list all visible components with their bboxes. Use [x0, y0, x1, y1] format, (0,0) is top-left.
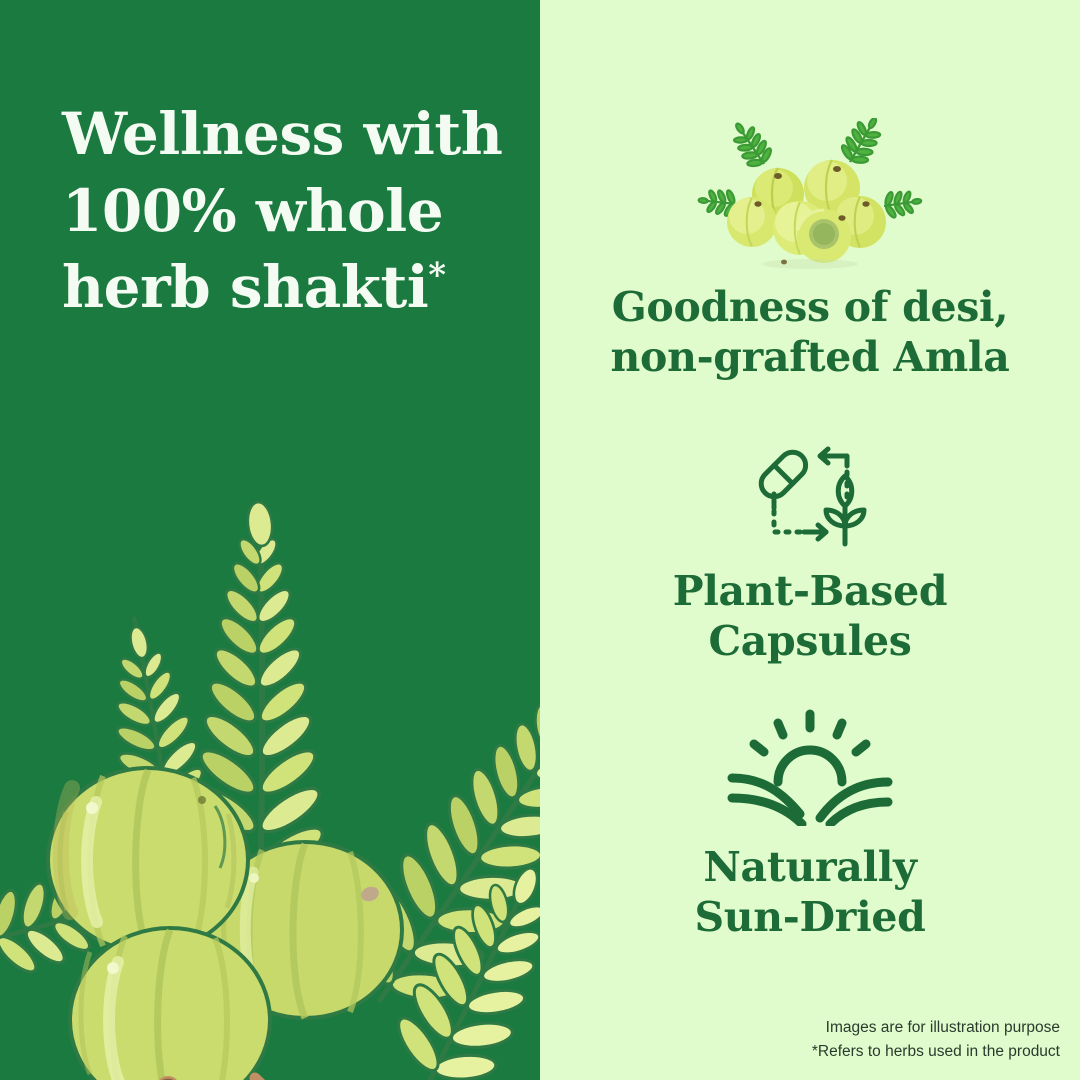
feature-label-capsule-line-1: Plant-Based	[673, 567, 948, 615]
feature-label-amla-line-1: Goodness of desi,	[612, 283, 1009, 331]
footnote-line-2: *Refers to herbs used in the product	[812, 1040, 1060, 1064]
headline-line-2: 100% whole	[62, 177, 443, 245]
right-panel: Goodness of desi, non-grafted Amla	[540, 0, 1080, 1080]
feature-visual-sun	[722, 706, 898, 826]
amla-fruit-left	[48, 768, 248, 952]
headline-asterisk: *	[428, 256, 445, 296]
feature-label-sun: Naturally Sun-Dried	[694, 842, 925, 942]
sun-over-fields-icon	[722, 706, 898, 826]
feature-label-capsule-line-2: Capsules	[708, 617, 911, 665]
feature-label-amla: Goodness of desi, non-grafted Amla	[611, 282, 1010, 382]
feature-label-sun-line-1: Naturally	[703, 843, 916, 891]
feature-visual-amla	[690, 118, 930, 276]
headline-line-1: Wellness with	[62, 100, 502, 168]
product-feature-poster: Wellness with 100% whole herb shakti*	[0, 0, 1080, 1080]
feature-item-sun: Naturally Sun-Dried	[540, 706, 1080, 942]
amla-berries-photo	[690, 118, 930, 276]
feature-item-capsule: Plant-Based Capsules	[540, 440, 1080, 666]
feature-label-amla-line-2: non-grafted Amla	[611, 333, 1010, 381]
page-headline: Wellness with 100% whole herb shakti*	[62, 96, 512, 326]
plant-based-capsule-cycle-icon	[746, 440, 874, 552]
feature-visual-capsule	[746, 440, 874, 552]
left-panel: Wellness with 100% whole herb shakti*	[0, 0, 540, 1080]
feature-label-sun-line-2: Sun-Dried	[694, 893, 925, 941]
feature-label-capsule: Plant-Based Capsules	[673, 566, 948, 666]
feature-item-amla: Goodness of desi, non-grafted Amla	[540, 118, 1080, 382]
amla-fruit-and-fern-leaves-illustration	[0, 440, 540, 1080]
headline-line-3: herb shakti	[62, 253, 428, 321]
footnote-line-1: Images are for illustration purpose	[812, 1016, 1060, 1040]
footnote: Images are for illustration purpose *Ref…	[812, 1016, 1060, 1064]
